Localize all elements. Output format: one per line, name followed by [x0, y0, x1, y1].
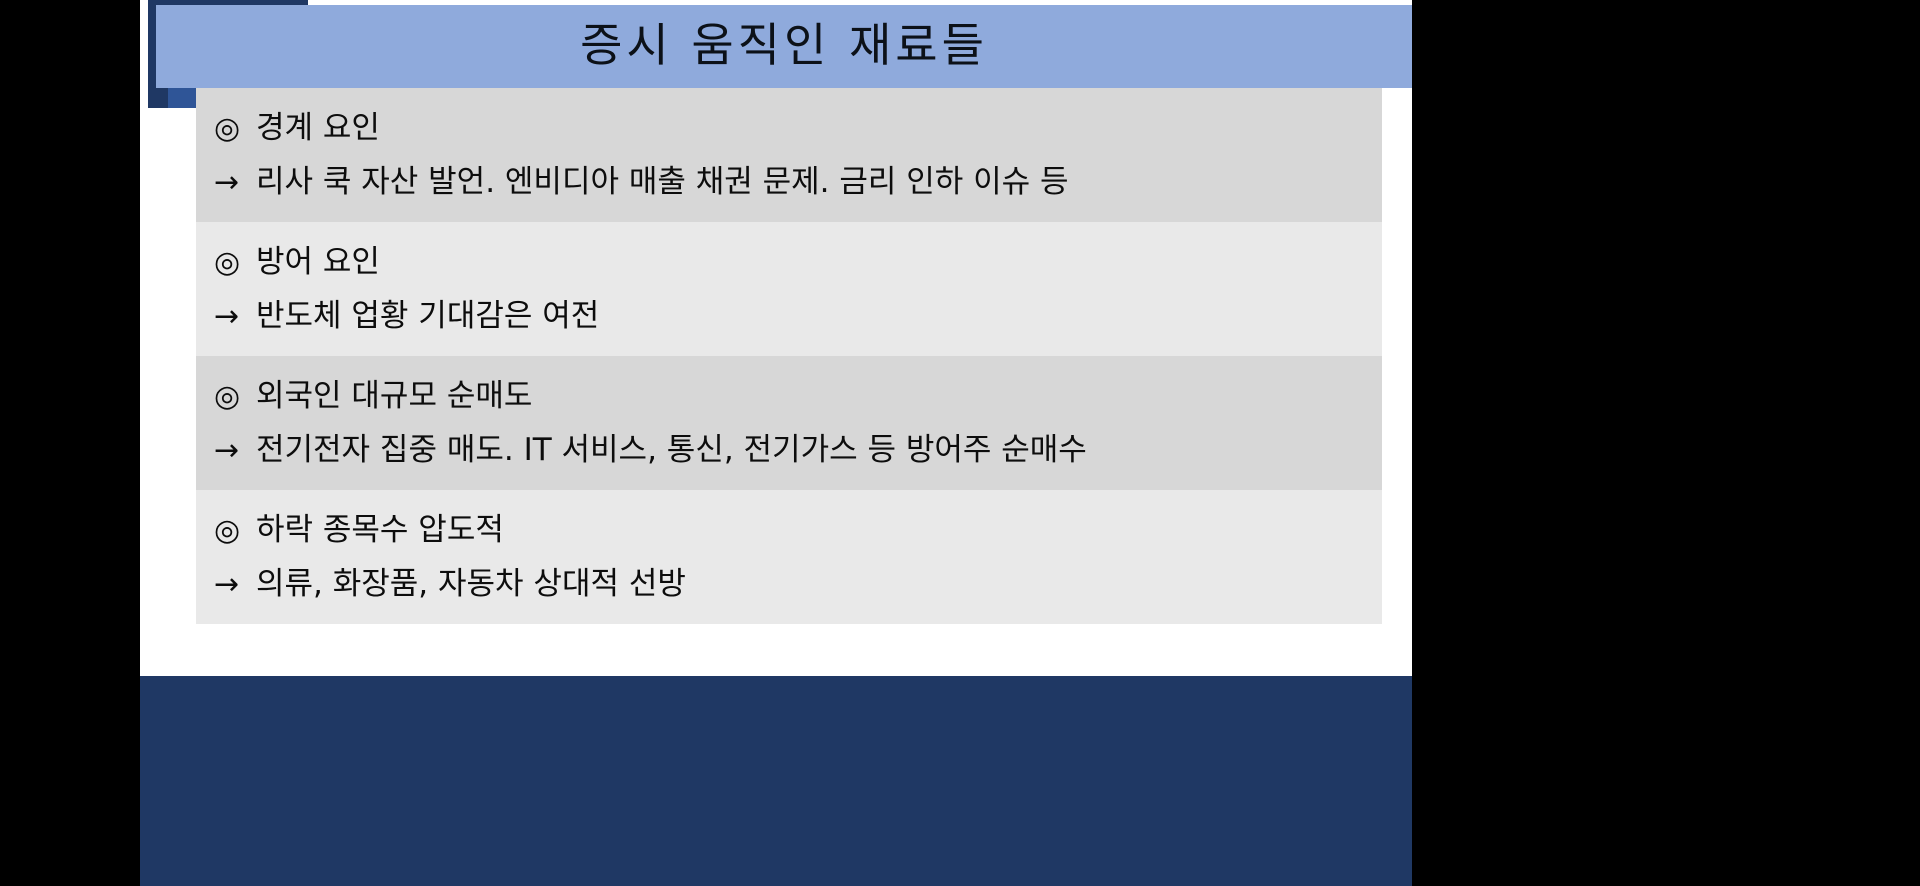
block-4-detail-row: → 의류, 화장품, 자동차 상대적 선방: [214, 557, 1382, 606]
block-2-heading-row: ◎ 방어 요인: [214, 236, 1382, 289]
block-1-heading-row: ◎ 경계 요인: [214, 102, 1382, 155]
double-circle-bullet-icon: ◎: [214, 248, 256, 278]
block-2-detail: 반도체 업황 기대감은 여전: [256, 301, 599, 332]
content-blocks: ◎ 경계 요인 → 리사 쿡 자산 발언. 엔비디아 매출 채권 문제. 금리 …: [196, 88, 1382, 624]
block-3-heading: 외국인 대규모 순매도: [256, 381, 532, 412]
content-block-3: ◎ 외국인 대규모 순매도 → 전기전자 집중 매도. IT 서비스, 통신, …: [196, 356, 1382, 490]
double-circle-bullet-icon: ◎: [214, 516, 256, 546]
slide-title-bar: 증시 움직인 재료들: [156, 5, 1412, 88]
block-3-heading-row: ◎ 외국인 대규모 순매도: [214, 370, 1382, 423]
right-arrow-icon: →: [214, 168, 256, 198]
block-3-detail-row: → 전기전자 집중 매도. IT 서비스, 통신, 전기가스 등 방어주 순매수: [214, 423, 1382, 472]
content-block-2: ◎ 방어 요인 → 반도체 업황 기대감은 여전: [196, 222, 1382, 356]
block-1-detail: 리사 쿡 자산 발언. 엔비디아 매출 채권 문제. 금리 인하 이슈 등: [256, 167, 1069, 198]
right-arrow-icon: →: [214, 570, 256, 600]
slide-title: 증시 움직인 재료들: [580, 22, 988, 72]
footer-gap: [140, 668, 1412, 676]
video-stage: 증시 움직인 재료들 ◎ 경계 요인 → 리사 쿡 자산 발언. 엔비디아 매출…: [0, 0, 1920, 886]
block-2-detail-row: → 반도체 업황 기대감은 여전: [214, 289, 1382, 338]
letterbox-right: [1412, 0, 1920, 886]
block-4-heading-row: ◎ 하락 종목수 압도적: [214, 504, 1382, 557]
double-circle-bullet-icon: ◎: [214, 382, 256, 412]
block-4-heading: 하락 종목수 압도적: [256, 515, 504, 546]
block-1-heading: 경계 요인: [256, 113, 380, 144]
double-circle-bullet-icon: ◎: [214, 114, 256, 144]
presentation-slide: 증시 움직인 재료들 ◎ 경계 요인 → 리사 쿡 자산 발언. 엔비디아 매출…: [140, 0, 1412, 886]
block-2-heading: 방어 요인: [256, 247, 380, 278]
right-arrow-icon: →: [214, 436, 256, 466]
block-3-detail: 전기전자 집중 매도. IT 서비스, 통신, 전기가스 등 방어주 순매수: [256, 435, 1087, 466]
block-1-detail-row: → 리사 쿡 자산 발언. 엔비디아 매출 채권 문제. 금리 인하 이슈 등: [214, 155, 1382, 204]
block-4-detail: 의류, 화장품, 자동차 상대적 선방: [256, 569, 686, 600]
slide-footer-band: [140, 676, 1412, 886]
content-block-4: ◎ 하락 종목수 압도적 → 의류, 화장품, 자동차 상대적 선방: [196, 490, 1382, 624]
content-block-1: ◎ 경계 요인 → 리사 쿡 자산 발언. 엔비디아 매출 채권 문제. 금리 …: [196, 88, 1382, 222]
right-arrow-icon: →: [214, 302, 256, 332]
letterbox-left: [0, 0, 140, 886]
